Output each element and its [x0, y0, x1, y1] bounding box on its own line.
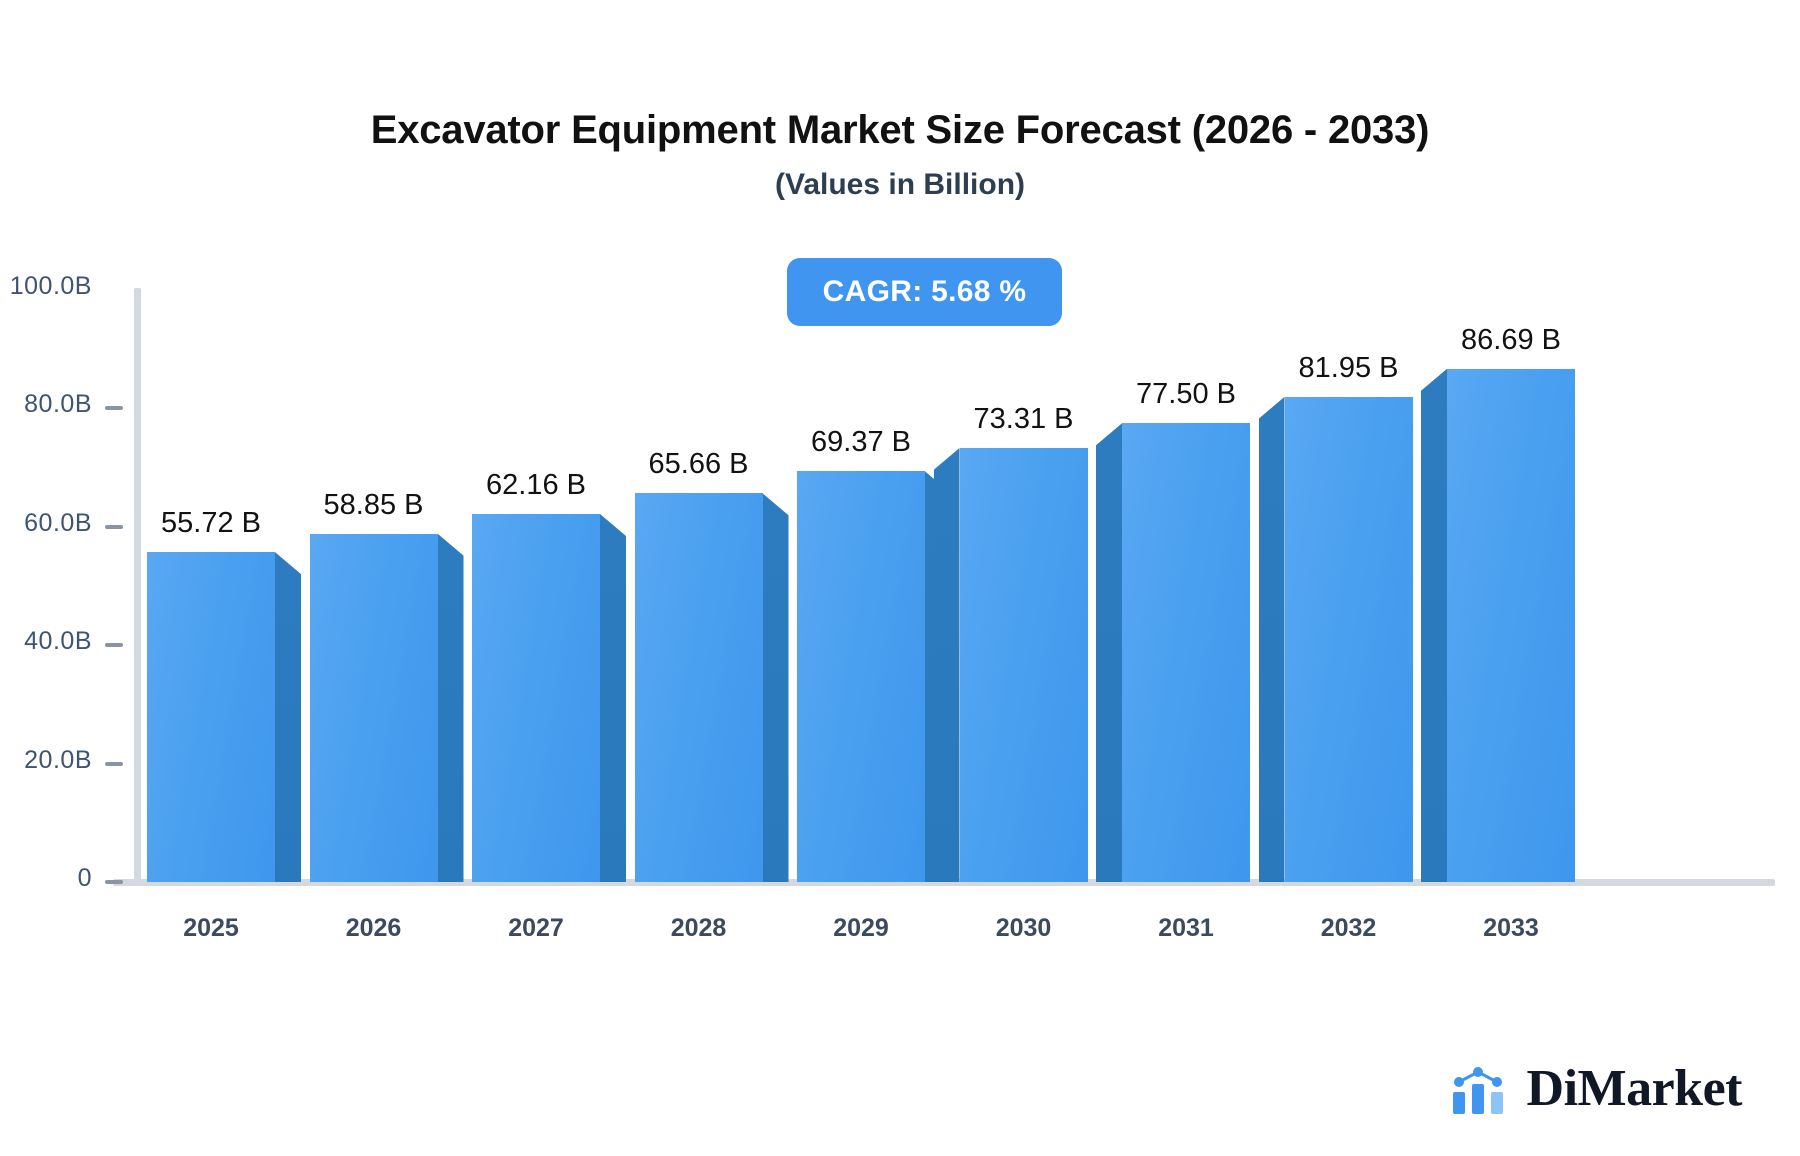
bar-2032[interactable]: 81.95 B2032	[1285, 397, 1413, 882]
bar-side-face	[763, 493, 789, 882]
x-axis-label: 2032	[1321, 914, 1377, 943]
bar-front-face	[1285, 397, 1413, 882]
bar-value-label: 77.50 B	[1136, 378, 1236, 411]
y-axis-tick-label: 100.0B	[10, 272, 92, 301]
bar-value-label: 86.69 B	[1461, 324, 1561, 357]
y-axis-tick-mark	[105, 880, 123, 884]
bar-front-face	[960, 448, 1088, 882]
dimarket-logo: DiMarket	[1451, 1062, 1742, 1116]
bar-2029[interactable]: 69.37 B2029	[797, 471, 925, 882]
x-axis-label: 2025	[183, 914, 239, 943]
bar-front-face	[635, 493, 763, 882]
x-axis-label: 2033	[1483, 914, 1539, 943]
bar-value-label: 62.16 B	[486, 469, 586, 502]
x-axis-label: 2031	[1158, 914, 1214, 943]
cagr-badge: CAGR: 5.68 %	[787, 258, 1062, 326]
bar-2028[interactable]: 65.66 B2028	[635, 493, 763, 882]
x-axis-label: 2029	[833, 914, 889, 943]
bar-chart-logo-icon	[1451, 1062, 1513, 1116]
bar-value-label: 58.85 B	[324, 489, 424, 522]
y-axis-tick-mark	[105, 525, 123, 529]
bar-side-face	[275, 552, 301, 882]
bar-side-face	[1421, 369, 1447, 882]
bar-side-face	[1259, 397, 1285, 882]
bar-2025[interactable]: 55.72 B2025	[147, 552, 275, 882]
bar-2031[interactable]: 77.50 B2031	[1122, 423, 1250, 882]
bar-value-label: 65.66 B	[649, 448, 749, 481]
y-axis-tick-label: 60.0B	[24, 509, 92, 538]
bar-front-face	[797, 471, 925, 882]
chart-page: Excavator Equipment Market Size Forecast…	[0, 0, 1800, 1156]
bar-side-face	[1096, 423, 1122, 882]
bar-2027[interactable]: 62.16 B2027	[472, 514, 600, 882]
bar-value-label: 55.72 B	[161, 507, 261, 540]
x-axis-label: 2026	[346, 914, 402, 943]
y-axis-tick-mark	[105, 406, 123, 410]
y-axis-tick-mark	[105, 643, 123, 647]
y-axis-tick-mark	[105, 762, 123, 766]
plot-area: 100.0B80.0B60.0B40.0B20.0B0 55.72 B20255…	[0, 0, 1800, 1156]
bar-value-label: 81.95 B	[1299, 352, 1399, 385]
y-axis-tick-label: 40.0B	[24, 627, 92, 656]
x-axis-label: 2027	[508, 914, 564, 943]
bar-front-face	[472, 514, 600, 882]
bar-value-label: 73.31 B	[974, 403, 1074, 436]
bar-2030[interactable]: 73.31 B2030	[960, 448, 1088, 882]
bar-2033[interactable]: 86.69 B2033	[1447, 369, 1575, 882]
y-axis-line	[134, 288, 141, 884]
x-axis-label: 2028	[671, 914, 727, 943]
bar-front-face	[1122, 423, 1250, 882]
logo-text: DiMarket	[1527, 1063, 1742, 1115]
bar-side-face	[934, 448, 960, 882]
bar-front-face	[1447, 369, 1575, 882]
x-axis-label: 2030	[996, 914, 1052, 943]
y-axis-tick-label: 0	[78, 864, 92, 893]
bar-value-label: 69.37 B	[811, 426, 911, 459]
bar-front-face	[310, 534, 438, 882]
bar-2026[interactable]: 58.85 B2026	[310, 534, 438, 882]
bar-front-face	[147, 552, 275, 882]
bar-side-face	[600, 514, 626, 882]
bar-side-face	[438, 534, 464, 882]
y-axis-tick-label: 80.0B	[24, 390, 92, 419]
y-axis-tick-label: 20.0B	[24, 746, 92, 775]
